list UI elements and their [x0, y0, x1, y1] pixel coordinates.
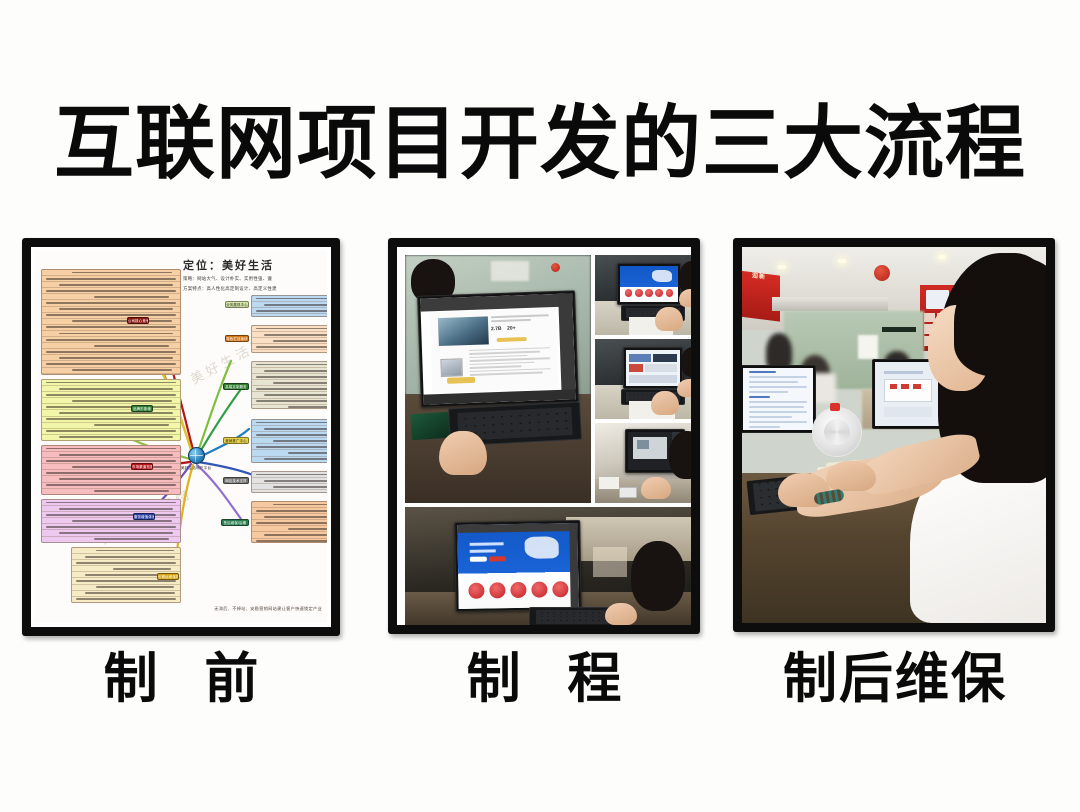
monitor-left	[742, 365, 816, 433]
mindmap-tag-label: 售后维保/后期	[222, 520, 248, 527]
caption-production: 制 程	[388, 648, 700, 710]
person-silhouette	[631, 541, 685, 611]
monitor-side-1	[617, 263, 681, 305]
mindmap-block-b6	[251, 295, 327, 317]
frame-inner-post-maintenance: 迎新	[742, 247, 1046, 623]
mindmap-tag-b6[interactable]: 业务展现中心	[225, 301, 249, 308]
wall-banner-left: 迎新	[742, 270, 780, 321]
screen-blue-landing	[620, 266, 678, 302]
ceiling-light	[938, 255, 946, 259]
photo-frame-production[interactable]: 2.7B 20+	[388, 238, 700, 634]
mindmap-tag-b2[interactable]: 品牌形象墙	[131, 405, 153, 412]
mindmap-block-b10	[251, 471, 327, 493]
person-silhouette	[669, 431, 691, 479]
desk-clutter	[593, 547, 627, 577]
mindmap-tag-label: 服务增值体系	[134, 514, 154, 521]
photo-frame-pre-production[interactable]: 美好生活网络 美好生活网络 美好生活网络 定位：美好生活 策略：网站大气、设计朴…	[22, 238, 340, 636]
hand-on-mouse	[677, 379, 691, 397]
mindmap-tag-label: 高端定制服务	[224, 384, 248, 391]
mindmap-tag-label: 品牌形象墙	[132, 406, 152, 413]
person-silhouette	[681, 347, 691, 377]
scene-design-workstation: 2.7B 20+	[405, 255, 591, 503]
collage-panel-main: 2.7B 20+	[404, 254, 592, 504]
screen-stat-row: 2.7B 20+	[491, 324, 549, 332]
monitor-side-2	[623, 347, 683, 389]
mindmap-block-b4	[41, 499, 181, 543]
collage-panel-side-1	[594, 254, 691, 336]
wall-sign	[882, 327, 916, 332]
mindmap-center-label: 美好生活地产平台	[174, 466, 218, 471]
collage-grid: 2.7B 20+	[401, 251, 687, 621]
mindmap-tag-b4[interactable]: 服务增值体系	[133, 513, 155, 520]
screen-design-editor: 2.7B 20+	[420, 293, 576, 404]
mindmap-block-b11	[251, 501, 327, 543]
frame-inner-pre-production: 美好生活网络 美好生活网络 美好生活网络 定位：美好生活 策略：网站大气、设计朴…	[31, 247, 331, 627]
air-conditioner	[772, 297, 888, 311]
agent-hand-typing	[826, 461, 876, 491]
mindmap-tag-label: 公司核心竞争力	[128, 318, 148, 325]
mindmap-tag-label: 业务展现中心	[226, 302, 248, 309]
globe-icon	[188, 447, 205, 464]
scene-designer-blue-site	[405, 507, 691, 625]
mindmap-tag-label: 市场渠道拓展	[132, 464, 152, 471]
collage-panel-side-3	[594, 422, 691, 504]
mindmap-canvas: 美好生活网络 美好生活网络 美好生活网络 定位：美好生活 策略：网站大气、设计朴…	[35, 251, 327, 623]
monitor-main: 2.7B 20+	[417, 290, 579, 407]
hand-on-mouse	[679, 289, 691, 307]
mousepad	[410, 412, 450, 441]
red-lantern	[874, 265, 890, 281]
mindmap-tag-b8[interactable]: 高端定制服务	[223, 383, 249, 390]
hand-typing	[651, 391, 679, 415]
mindmap-tag-b10[interactable]: 网站技术支撑	[223, 477, 249, 484]
mindmap-tag-b1[interactable]: 公司核心竞争力	[127, 317, 149, 324]
mindmap-tag-label: 网站技术支撑	[224, 478, 248, 485]
smartphone	[619, 487, 637, 498]
scene-staff-portal	[595, 339, 691, 419]
caption-pre-production: 制 前	[22, 648, 340, 710]
page-title: 互联网项目开发的三大流程	[0, 96, 1080, 192]
frame-inner-production: 2.7B 20+	[397, 247, 691, 625]
screen-form	[743, 368, 813, 430]
ceiling-light	[838, 259, 846, 263]
mindmap-tag-label: 特色栏目版块	[226, 336, 248, 343]
mindmap-tag-b5[interactable]: 长期运维保障	[157, 573, 179, 580]
hand-on-mouse	[605, 603, 637, 625]
collage-panel-side-2	[594, 338, 691, 420]
hand-on-mouse	[641, 477, 671, 499]
mindmap-block-b7	[251, 325, 327, 353]
fan-knob	[830, 403, 840, 411]
hand-on-mouse	[439, 431, 487, 475]
collage-panel-bottom	[404, 506, 691, 625]
scene-customer-service-office: 迎新	[742, 247, 1046, 623]
mindmap-block-b3	[41, 445, 181, 495]
screen-portal-page	[626, 350, 680, 386]
caption-post-maintenance: 制后维保	[733, 648, 1055, 710]
mindmap-tag-label: 营销推广中心	[224, 438, 248, 445]
scene-photo-editing	[595, 423, 691, 503]
mindmap-block-b1	[41, 269, 181, 375]
mindmap-footer-note: 无滞后、不掉站、安稳营销网站建让客户快速锁定产业	[214, 606, 322, 612]
hand-typing	[655, 307, 683, 331]
mindmap-block-b8	[251, 361, 327, 409]
ceiling-light	[778, 265, 786, 269]
scene-staff-blue-page	[595, 255, 691, 335]
monitor-bottom	[454, 520, 582, 612]
mindmap-tag-b7[interactable]: 特色栏目版块	[225, 335, 249, 342]
mindmap-block-b9	[251, 419, 327, 463]
mindmap-block-b2	[41, 379, 181, 441]
mindmap-tag-b11[interactable]: 售后维保/后期	[221, 519, 249, 526]
mindmap-center-node[interactable]: 美好生活地产平台	[174, 447, 218, 471]
photo-frames-row: 美好生活网络 美好生活网络 美好生活网络 定位：美好生活 策略：网站大气、设计朴…	[0, 238, 1080, 638]
screen-blue-landing	[457, 523, 578, 609]
mindmap-tag-label: 长期运维保障	[158, 574, 178, 581]
desk-fan	[812, 407, 862, 457]
mindmap-tag-b9[interactable]: 营销推广中心	[223, 437, 249, 444]
mindmap-tag-b3[interactable]: 市场渠道拓展	[131, 463, 153, 470]
photo-frame-post-maintenance[interactable]: 迎新	[733, 238, 1055, 632]
